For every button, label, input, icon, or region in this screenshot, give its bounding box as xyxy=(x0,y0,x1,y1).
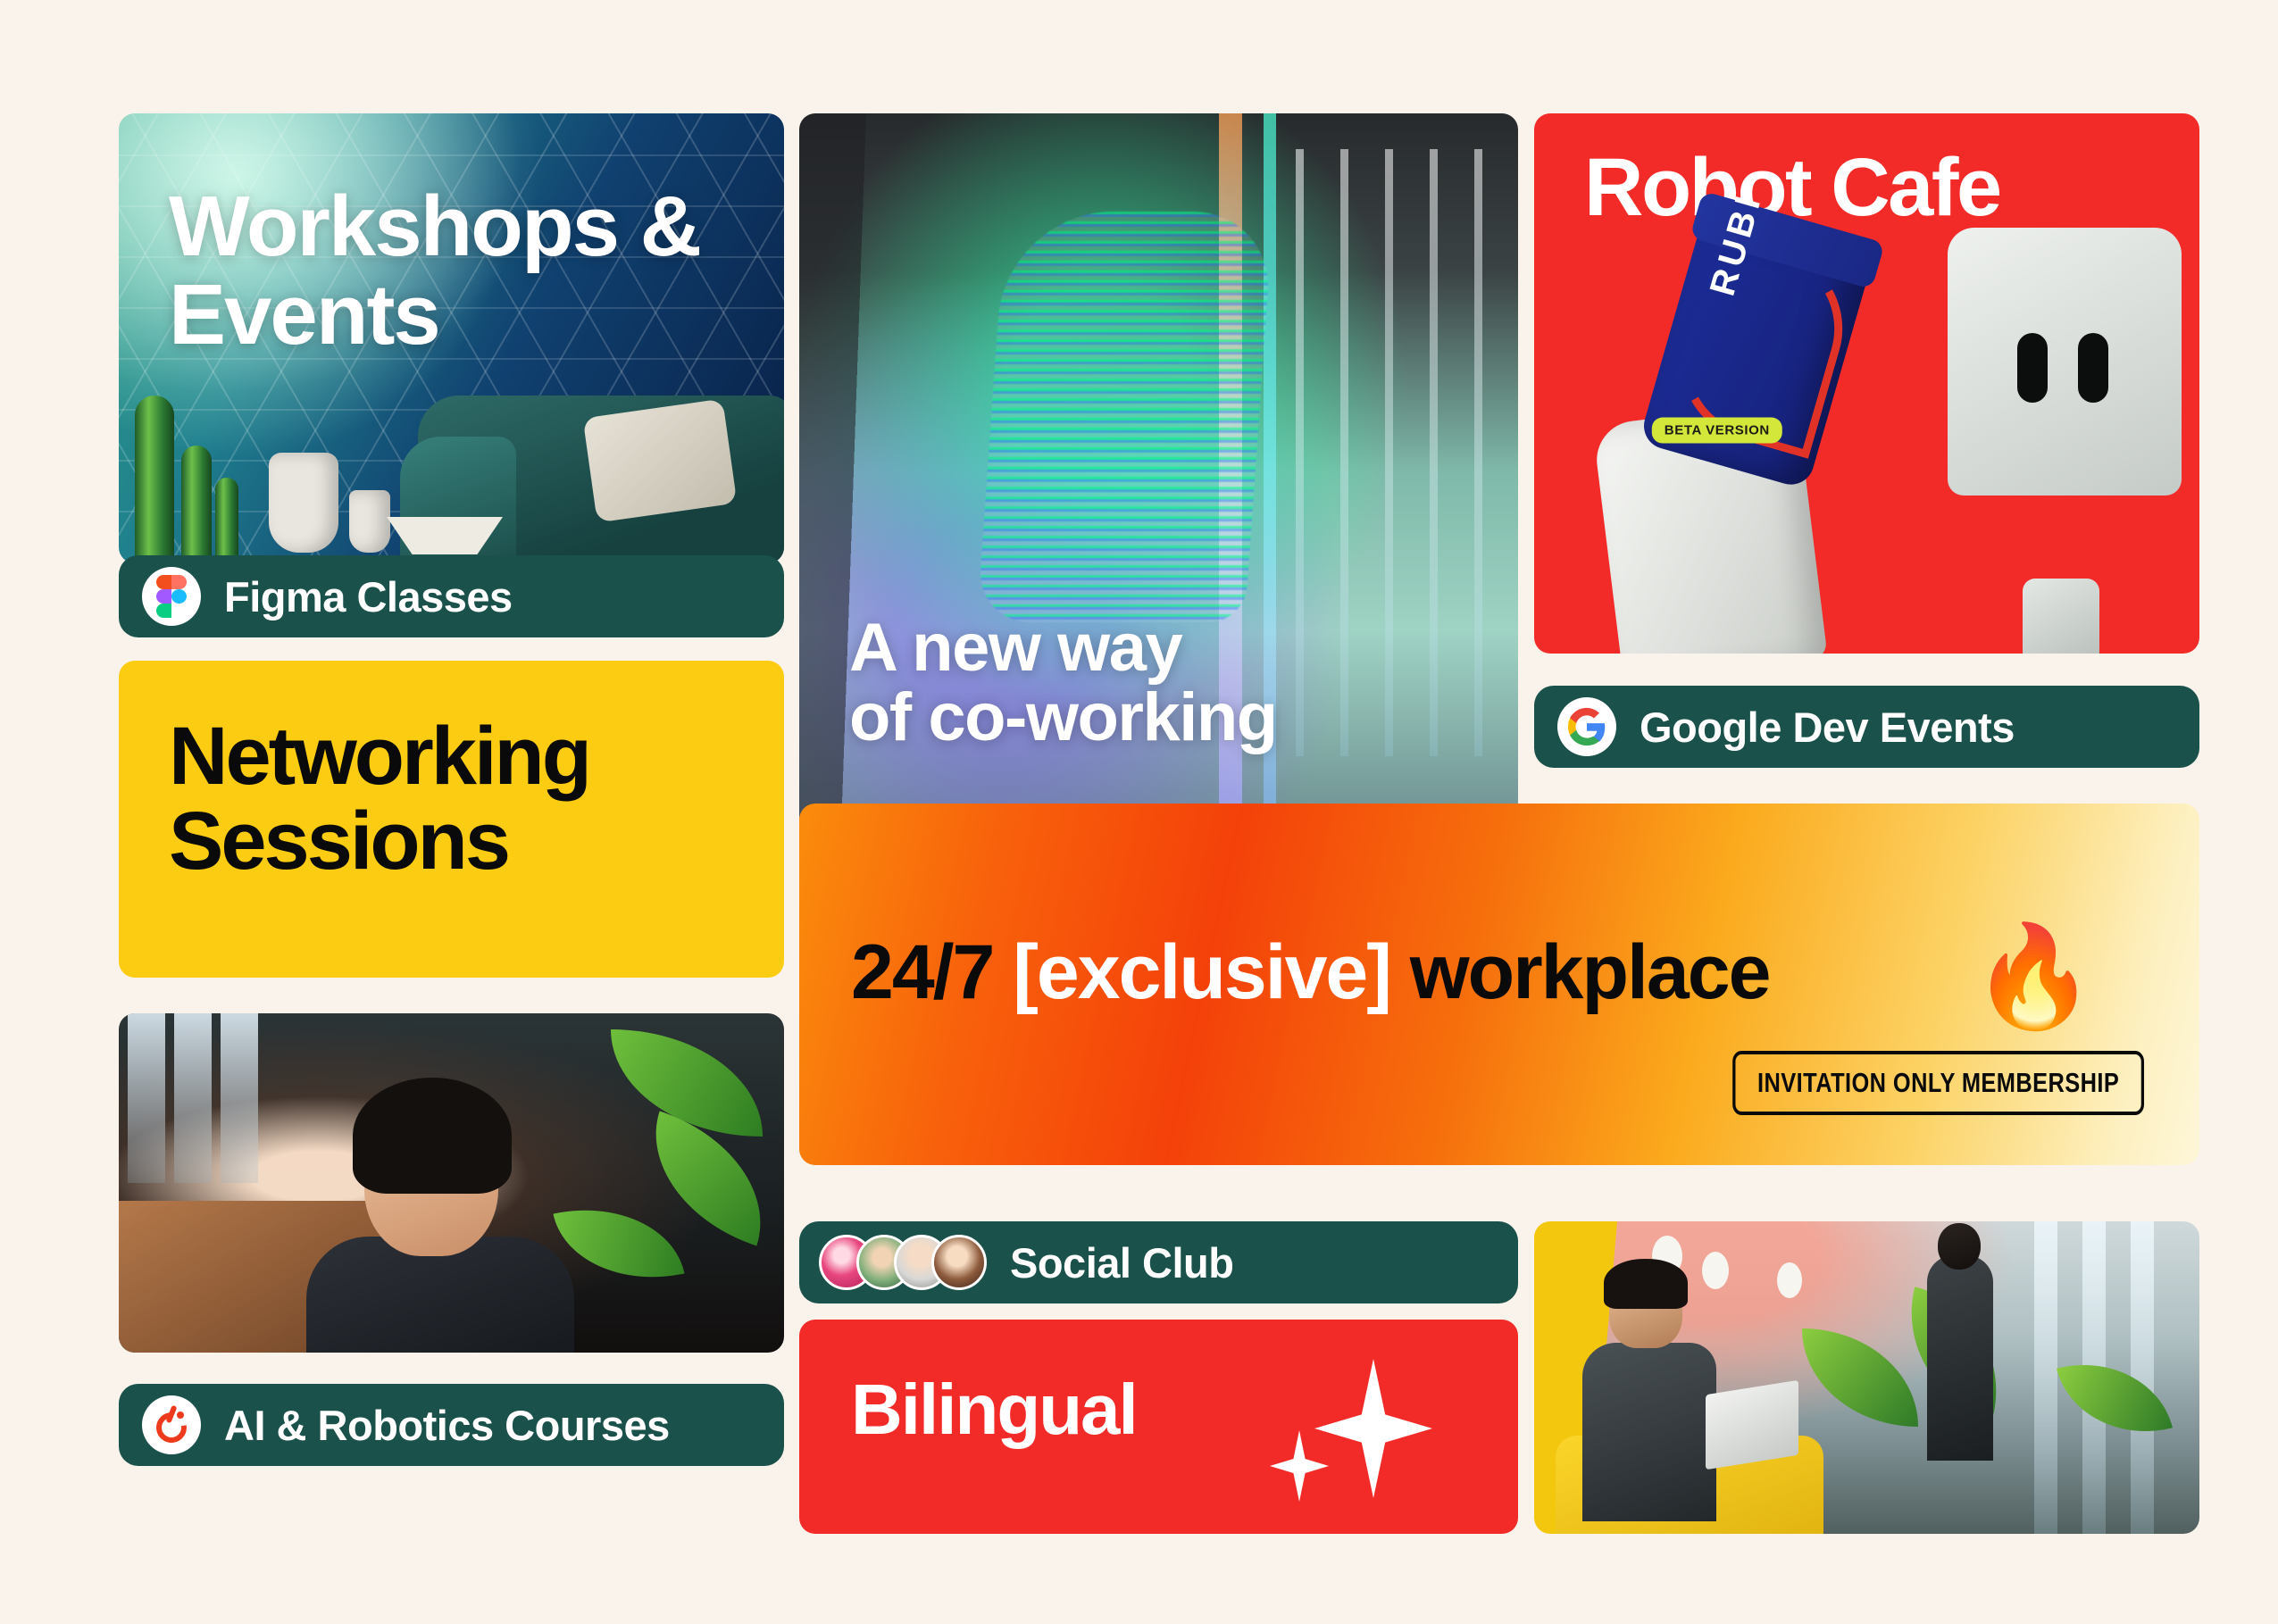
pytorch-flame-icon xyxy=(142,1395,201,1454)
person-hair xyxy=(353,1078,512,1194)
pill-figma-label: Figma Classes xyxy=(224,572,513,621)
grid-rail xyxy=(1385,149,1393,756)
beta-version-tag: BETA VERSION xyxy=(1652,418,1782,444)
window-pane xyxy=(2034,1221,2057,1534)
pill-ai-robotics-courses[interactable]: AI & Robotics Courses xyxy=(119,1384,784,1466)
banner-text-exclusive: [exclusive] xyxy=(1013,929,1390,1015)
person-torso xyxy=(1582,1343,1716,1521)
laptop xyxy=(1706,1380,1798,1470)
grid-rail xyxy=(1430,149,1438,756)
pill-social-label: Social Club xyxy=(1010,1238,1233,1287)
avatar-stack xyxy=(819,1235,987,1290)
plant-decoration xyxy=(2057,1345,2173,1452)
window-light xyxy=(221,1013,258,1183)
robot-neck xyxy=(2023,579,2099,654)
pill-google-label: Google Dev Events xyxy=(1640,703,2015,752)
leaf-decoration xyxy=(611,1029,763,1137)
banner-headline: 24/7 [exclusive] workplace xyxy=(851,929,1769,1017)
vase-decoration xyxy=(269,453,338,553)
card-lounge-photo[interactable] xyxy=(119,1013,784,1353)
cactus-decoration xyxy=(215,478,238,563)
fire-emoji: 🔥 xyxy=(1972,927,2096,1027)
pendant-lamp xyxy=(1777,1262,1802,1298)
banner-text-247: 24/7 xyxy=(851,929,993,1015)
card-247-workplace-banner[interactable]: 24/7 [exclusive] workplace 🔥 INVITATION … xyxy=(799,804,2199,1165)
plant-decoration xyxy=(1802,1328,1918,1427)
pill-google-dev-events[interactable]: Google Dev Events xyxy=(1534,686,2199,768)
workshops-title-line2: Events xyxy=(169,267,439,362)
card-networking-sessions[interactable]: Networking Sessions xyxy=(119,661,784,978)
window-light xyxy=(128,1013,165,1183)
cactus-decoration xyxy=(181,446,212,563)
card-workshops-events[interactable]: Workshops & Events xyxy=(119,113,784,563)
seated-person xyxy=(1582,1266,1716,1516)
bilingual-title: Bilingual xyxy=(851,1373,1137,1446)
networking-title-line2: Sessions xyxy=(169,795,508,887)
card-coworking-photo[interactable]: A new way of co-working xyxy=(799,113,1518,832)
standing-person xyxy=(1927,1255,1993,1461)
cushion-decoration xyxy=(583,399,738,523)
coworking-title-line1: A new way xyxy=(849,610,1181,686)
person-hair xyxy=(1604,1259,1688,1309)
motion-blur-figure xyxy=(977,212,1273,622)
leaf-decoration xyxy=(553,1190,684,1298)
workshops-title: Workshops & Events xyxy=(169,183,700,360)
avatar xyxy=(931,1235,987,1290)
networking-title-line1: Networking xyxy=(169,711,589,802)
grid-rail xyxy=(1296,149,1304,756)
google-g-icon xyxy=(1557,697,1616,756)
sparkle-icon xyxy=(1314,1359,1432,1498)
robot-eye-right xyxy=(2078,333,2108,403)
workshops-title-line1: Workshops & xyxy=(169,179,700,274)
coworking-title-line2: of co-working xyxy=(849,679,1277,755)
robot-eye-left xyxy=(2017,333,2048,403)
banner-text-workplace: workplace xyxy=(1410,929,1770,1015)
robot-head xyxy=(1948,228,2182,496)
pill-figma-classes[interactable]: Figma Classes xyxy=(119,555,784,637)
card-cafe-photo[interactable] xyxy=(1534,1221,2199,1534)
coworking-title: A new way of co-working xyxy=(849,613,1277,754)
google-g-svg xyxy=(1566,706,1607,747)
moodboard-canvas: Workshops & Events Figma Classes Network… xyxy=(0,0,2278,1624)
window-light xyxy=(174,1013,212,1183)
sparkle-icon xyxy=(1270,1430,1329,1502)
card-robot-cafe[interactable]: Robot Cafe RUBI BETA VERSION xyxy=(1534,113,2199,654)
grid-rail xyxy=(1474,149,1482,756)
cactus-decoration xyxy=(135,396,174,563)
invitation-only-membership-button[interactable]: INVITATION ONLY MEMBERSHIP xyxy=(1732,1051,2144,1115)
vase-decoration xyxy=(349,490,390,553)
pill-social-club[interactable]: Social Club xyxy=(799,1221,1518,1303)
coffee-cup: RUBI BETA VERSION xyxy=(1639,212,1873,490)
figma-logo-icon xyxy=(142,567,201,626)
networking-title: Networking Sessions xyxy=(169,714,589,884)
pill-ai-label: AI & Robotics Courses xyxy=(224,1401,670,1450)
card-bilingual[interactable]: Bilingual xyxy=(799,1320,1518,1534)
grid-rail xyxy=(1340,149,1348,756)
